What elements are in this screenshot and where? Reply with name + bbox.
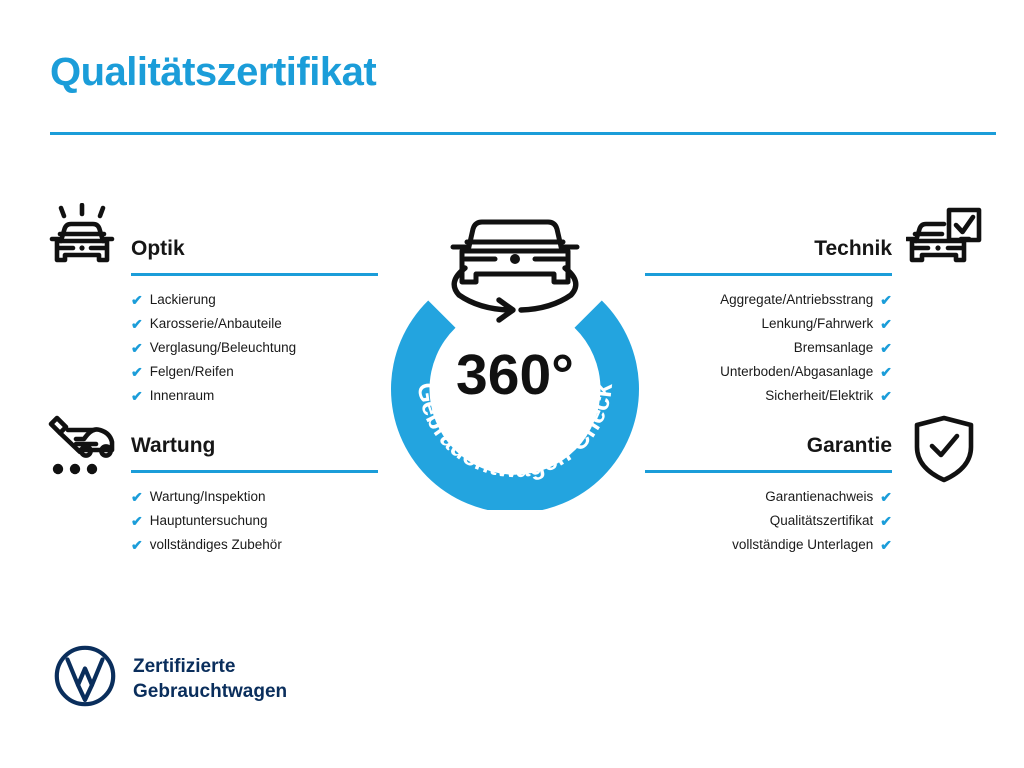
list-item-label: Qualitätszertifikat (770, 509, 874, 533)
vw-logo-icon (54, 645, 116, 712)
checklist-optik: ✔Lackierung ✔Karosserie/Anbauteile ✔Verg… (131, 288, 378, 408)
section-divider (645, 273, 892, 276)
list-item: vollständige Unterlagen✔ (645, 533, 892, 557)
wrench-car-icon (46, 414, 120, 485)
header-divider (50, 132, 996, 135)
list-item-label: Felgen/Reifen (150, 360, 234, 384)
check-icon: ✔ (880, 341, 892, 355)
list-item: Sicherheit/Elektrik✔ (645, 384, 892, 408)
check-icon: ✔ (880, 293, 892, 307)
footer-line-1: Zertifizierte (133, 654, 287, 679)
list-item: Aggregate/Antriebsstrang✔ (645, 288, 892, 312)
section-divider (131, 273, 378, 276)
list-item-label: Karosserie/Anbauteile (150, 312, 282, 336)
check-icon: ✔ (880, 538, 892, 552)
check-icon: ✔ (880, 490, 892, 504)
list-item: ✔Verglasung/Beleuchtung (131, 336, 378, 360)
list-item-label: Aggregate/Antriebsstrang (720, 288, 873, 312)
section-title: Garantie (645, 433, 892, 459)
section-title: Wartung (131, 433, 378, 459)
list-item: Unterboden/Abgasanlage✔ (645, 360, 892, 384)
list-item-label: Verglasung/Beleuchtung (150, 336, 296, 360)
car-shine-icon (46, 203, 120, 282)
car-checkbox-icon (906, 206, 984, 279)
list-item-label: vollständiges Zubehör (150, 533, 282, 557)
list-item-label: Wartung/Inspektion (150, 485, 266, 509)
list-item-label: vollständige Unterlagen (732, 533, 873, 557)
list-item: ✔Felgen/Reifen (131, 360, 378, 384)
list-item-label: Garantienachweis (765, 485, 873, 509)
section-title: Technik (645, 236, 892, 262)
list-item: Garantienachweis✔ (645, 485, 892, 509)
badge-center-label: 360° (456, 343, 574, 407)
section-divider (645, 470, 892, 473)
check-icon: ✔ (131, 341, 143, 355)
checklist-wartung: ✔Wartung/Inspektion ✔Hauptuntersuchung ✔… (131, 485, 378, 557)
certificate-page: Qualitätszertifikat (0, 0, 1024, 768)
section-optik: Optik ✔Lackierung ✔Karosserie/Anbauteile… (131, 236, 378, 408)
section-technik: Technik Aggregate/Antriebsstrang✔ Lenkun… (645, 236, 892, 408)
section-header-technik: Technik (645, 236, 892, 276)
check-icon: ✔ (131, 317, 143, 331)
check-icon: ✔ (131, 389, 143, 403)
check-icon: ✔ (880, 365, 892, 379)
check-icon: ✔ (131, 514, 143, 528)
list-item-label: Bremsanlage (794, 336, 874, 360)
list-item: Bremsanlage✔ (645, 336, 892, 360)
page-title: Qualitätszertifikat (50, 52, 376, 92)
list-item: ✔vollständiges Zubehör (131, 533, 378, 557)
car-rotate-icon (453, 222, 577, 320)
check-icon: ✔ (131, 293, 143, 307)
list-item-label: Hauptuntersuchung (150, 509, 268, 533)
check-icon: ✔ (880, 317, 892, 331)
list-item: ✔Karosserie/Anbauteile (131, 312, 378, 336)
section-wartung: Wartung ✔Wartung/Inspektion ✔Hauptunters… (131, 433, 378, 557)
check-icon: ✔ (131, 490, 143, 504)
list-item-label: Lenkung/Fahrwerk (761, 312, 873, 336)
list-item: ✔Innenraum (131, 384, 378, 408)
shield-check-icon (911, 414, 977, 489)
list-item: ✔Hauptuntersuchung (131, 509, 378, 533)
list-item-label: Sicherheit/Elektrik (765, 384, 873, 408)
section-title: Optik (131, 236, 378, 262)
list-item: ✔Wartung/Inspektion (131, 485, 378, 509)
section-divider (131, 470, 378, 473)
check-icon: ✔ (880, 514, 892, 528)
section-header-garantie: Garantie (645, 433, 892, 473)
footer-line-2: Gebrauchtwagen (133, 679, 287, 704)
section-header-wartung: Wartung (131, 433, 378, 473)
vw-certified-logo: Zertifizierte Gebrauchtwagen (54, 645, 287, 712)
list-item: Qualitätszertifikat✔ (645, 509, 892, 533)
section-header-optik: Optik (131, 236, 378, 276)
badge-360-check: Gebrauchtwagen-Check (370, 190, 660, 510)
checklist-technik: Aggregate/Antriebsstrang✔ Lenkung/Fahrwe… (645, 288, 892, 408)
section-garantie: Garantie Garantienachweis✔ Qualitätszert… (645, 433, 892, 557)
footer-text-block: Zertifizierte Gebrauchtwagen (133, 654, 287, 704)
list-item: Lenkung/Fahrwerk✔ (645, 312, 892, 336)
check-icon: ✔ (131, 538, 143, 552)
checklist-garantie: Garantienachweis✔ Qualitätszertifikat✔ v… (645, 485, 892, 557)
check-icon: ✔ (131, 365, 143, 379)
list-item-label: Innenraum (150, 384, 215, 408)
list-item-label: Unterboden/Abgasanlage (720, 360, 873, 384)
list-item-label: Lackierung (150, 288, 216, 312)
check-icon: ✔ (880, 389, 892, 403)
list-item: ✔Lackierung (131, 288, 378, 312)
